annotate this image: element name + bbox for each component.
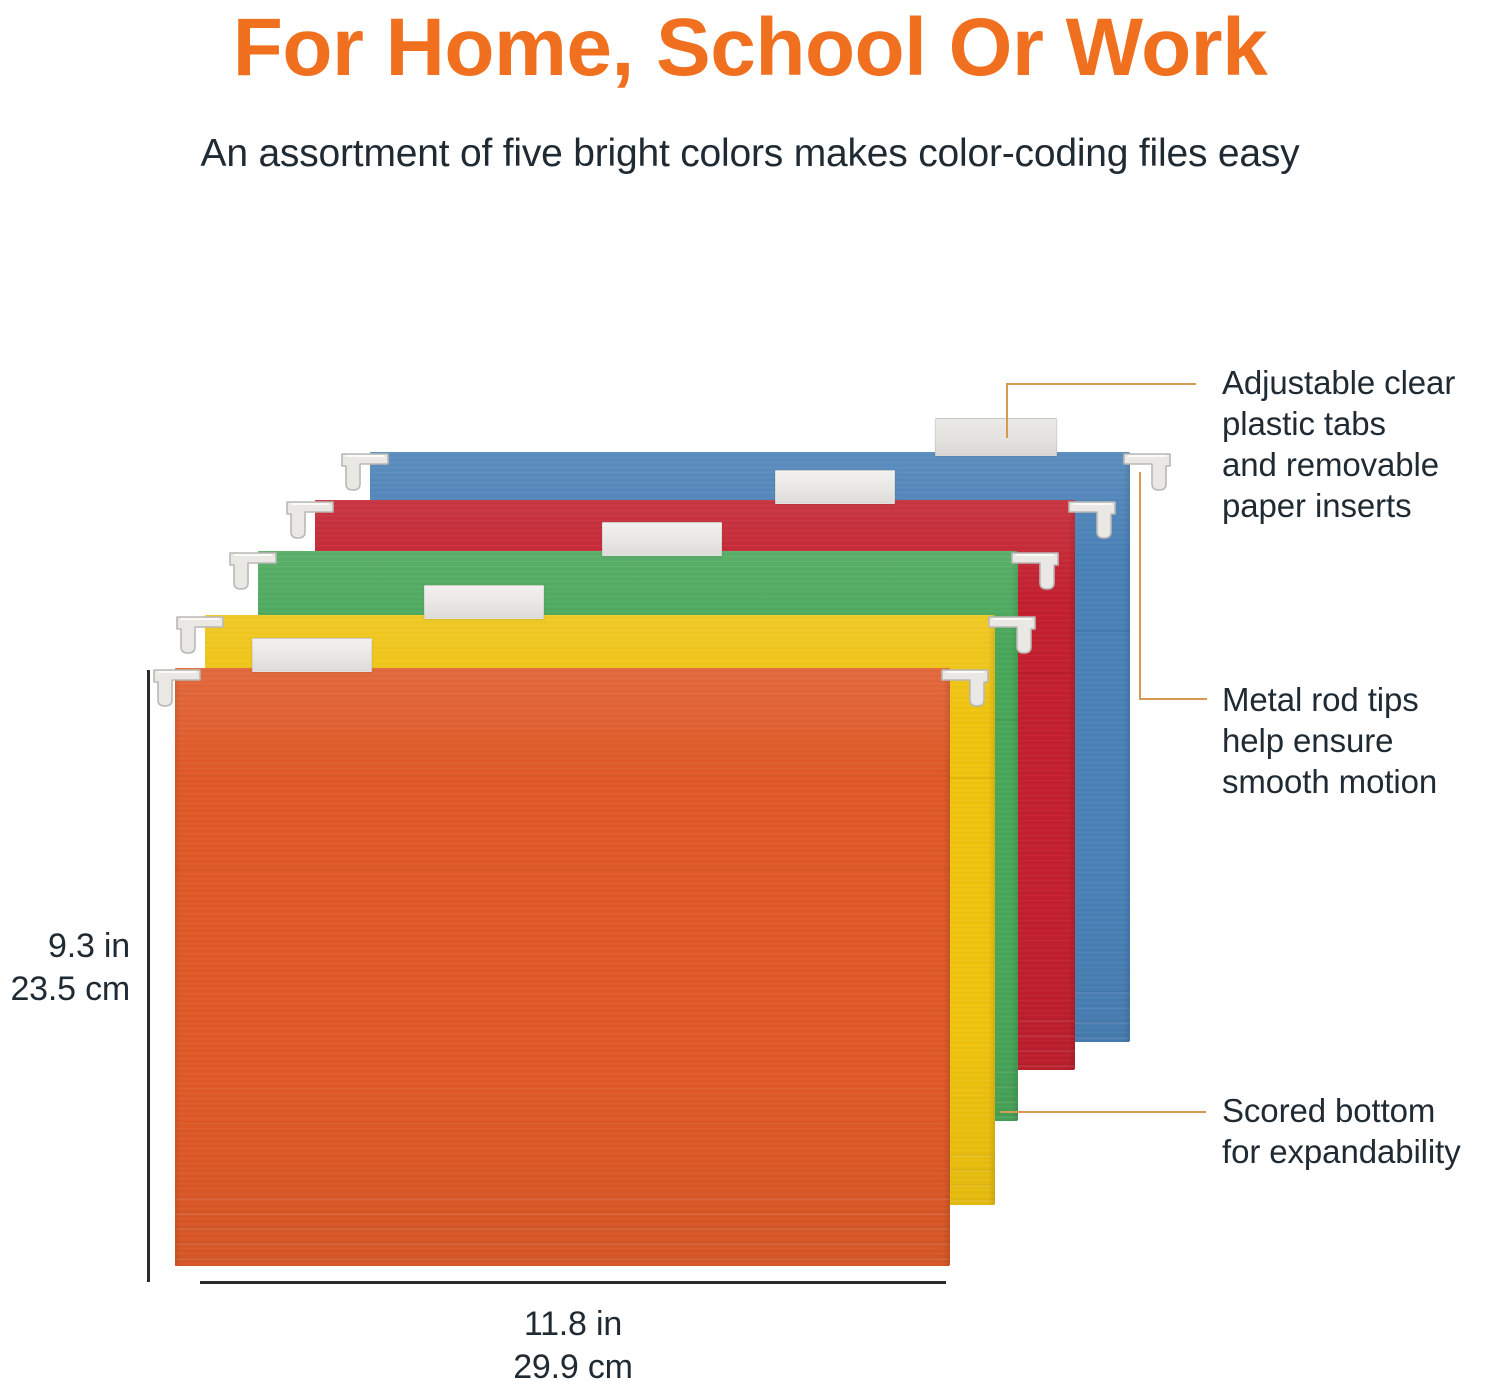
dimension-width-metric: 29.9 cm	[200, 1346, 946, 1386]
folder-yellow-right-edge	[988, 615, 995, 1205]
callout-rod-tips-line-3: smooth motion	[1222, 761, 1500, 802]
callout-scored-bottom-line-1: Scored bottom	[1222, 1090, 1500, 1131]
callout-rod-tips-line-1: Metal rod tips	[1222, 679, 1500, 720]
leader-line-rod-tips-vertical	[1139, 472, 1141, 700]
leader-line-scored-bottom	[1000, 1111, 1206, 1113]
folder-red-right-edge	[1068, 500, 1075, 1070]
dimension-label-width: 11.8 in 29.9 cm	[200, 1303, 946, 1386]
folder-green-right-edge	[1011, 551, 1018, 1121]
leader-line-rod-tips-horizontal	[1139, 698, 1207, 700]
plastic-tab-red	[775, 470, 895, 504]
plastic-tab-yellow	[424, 585, 544, 619]
callout-scored-bottom-line-2: for expandability	[1222, 1131, 1500, 1172]
callout-tabs-line-1: Adjustable clear	[1222, 362, 1500, 403]
callout-tabs-line-4: paper inserts	[1222, 485, 1500, 526]
dimension-line-height	[147, 670, 150, 1282]
folder-orange-scored-bottom	[175, 1186, 950, 1266]
folder-orange-crease	[175, 868, 950, 870]
callout-rod-tips-line-2: help ensure	[1222, 720, 1500, 761]
leader-line-tabs-horizontal	[1006, 383, 1196, 385]
dimension-height-imperial: 9.3 in	[0, 925, 130, 968]
callout-tabs-line-2: plastic tabs	[1222, 403, 1500, 444]
callout-tabs-line-3: and removable	[1222, 444, 1500, 485]
dimension-line-width	[200, 1281, 946, 1284]
callout-scored-bottom: Scored bottom for expandability	[1222, 1090, 1500, 1172]
plastic-tab-blue	[935, 418, 1057, 456]
leader-line-tabs-vertical	[1006, 383, 1008, 438]
folder-orange-right-edge	[943, 668, 950, 1266]
product-infographic: For Home, School Or Work An assortment o…	[0, 0, 1500, 1386]
folder-blue-right-edge	[1123, 452, 1130, 1042]
folder-orange-left-edge	[175, 668, 180, 1266]
plastic-tab-orange	[252, 638, 372, 672]
dimension-height-metric: 23.5 cm	[0, 968, 130, 1011]
callout-tabs: Adjustable clear plastic tabs and remova…	[1222, 362, 1500, 526]
plastic-tab-green	[602, 522, 722, 556]
folder-orange-face	[175, 668, 950, 1266]
callout-rod-tips: Metal rod tips help ensure smooth motion	[1222, 679, 1500, 802]
dimension-label-height: 9.3 in 23.5 cm	[0, 925, 130, 1011]
dimension-width-imperial: 11.8 in	[200, 1303, 946, 1346]
folder-orange	[175, 668, 950, 1266]
